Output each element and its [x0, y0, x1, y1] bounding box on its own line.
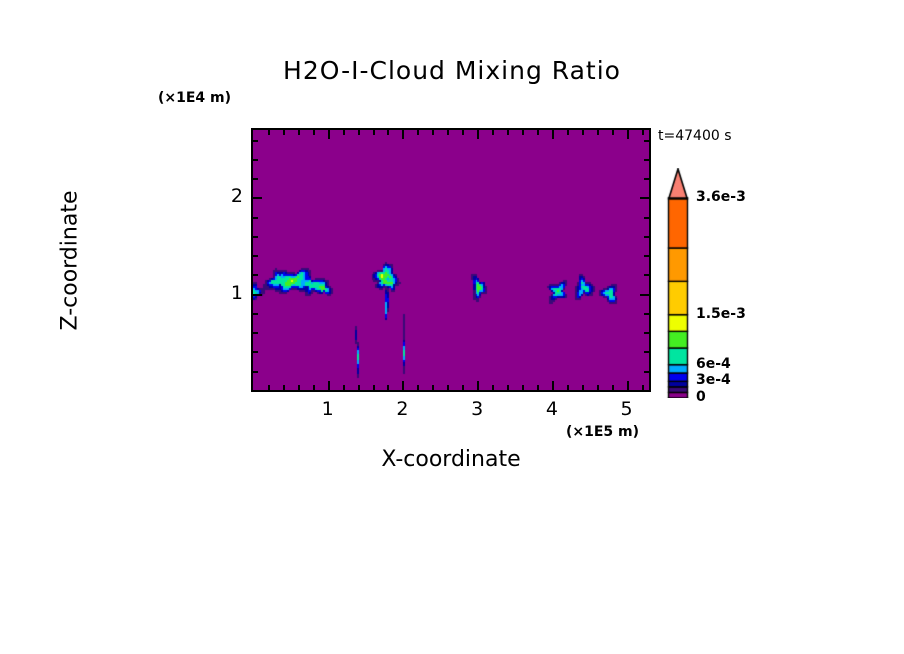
tick-mark — [462, 130, 464, 135]
tick-mark — [522, 385, 524, 390]
x-tick-label: 2 — [382, 398, 422, 420]
tick-mark — [644, 140, 649, 142]
tick-mark — [358, 385, 360, 390]
tick-mark — [644, 255, 649, 257]
tick-mark — [522, 130, 524, 135]
tick-mark — [402, 381, 404, 390]
tick-mark — [507, 130, 509, 135]
tick-mark — [253, 255, 258, 257]
tick-mark — [432, 130, 434, 135]
tick-mark — [343, 385, 345, 390]
tick-mark — [612, 130, 614, 135]
tick-mark — [283, 385, 285, 390]
tick-mark — [373, 130, 375, 135]
tick-mark — [644, 313, 649, 315]
tick-mark — [358, 130, 360, 135]
tick-mark — [253, 178, 258, 180]
tick-mark — [642, 385, 644, 390]
time-annotation: t=47400 s — [658, 128, 732, 144]
tick-mark — [582, 385, 584, 390]
tick-mark — [582, 130, 584, 135]
colorbar — [666, 168, 690, 398]
tick-mark — [537, 385, 539, 390]
colorbar-tick-label: 0 — [696, 389, 706, 405]
tick-mark — [298, 130, 300, 135]
tick-mark — [402, 130, 404, 139]
tick-mark — [253, 294, 262, 296]
tick-mark — [644, 217, 649, 219]
colorbar-tick-label: 3.6e-3 — [696, 189, 746, 205]
tick-mark — [537, 130, 539, 135]
tick-mark — [567, 130, 569, 135]
x-axis-title: X-coordinate — [253, 447, 649, 472]
tick-mark — [328, 381, 330, 390]
y-axis-units: (×1E4 m) — [158, 90, 231, 106]
tick-mark — [283, 130, 285, 135]
tick-mark — [253, 371, 258, 373]
tick-mark — [477, 381, 479, 390]
tick-mark — [253, 197, 262, 199]
chart-title: H2O-I-Cloud Mixing Ratio — [0, 56, 904, 85]
tick-mark — [328, 130, 330, 139]
tick-mark — [552, 381, 554, 390]
y-axis-title: Z-coordinate — [58, 131, 83, 391]
tick-mark — [253, 351, 258, 353]
y-tick-label: 1 — [213, 282, 243, 304]
tick-mark — [253, 274, 258, 276]
tick-mark — [387, 385, 389, 390]
tick-mark — [417, 130, 419, 135]
tick-mark — [477, 130, 479, 139]
tick-mark — [640, 197, 649, 199]
tick-mark — [597, 130, 599, 135]
x-tick-label: 4 — [532, 398, 572, 420]
tick-mark — [417, 385, 419, 390]
tick-mark — [298, 385, 300, 390]
tick-mark — [627, 381, 629, 390]
colorbar-tick-label: 1.5e-3 — [696, 306, 746, 322]
tick-mark — [343, 130, 345, 135]
tick-mark — [507, 385, 509, 390]
tick-mark — [447, 385, 449, 390]
tick-mark — [268, 130, 270, 135]
y-tick-label: 2 — [213, 185, 243, 207]
tick-mark — [644, 371, 649, 373]
tick-mark — [644, 236, 649, 238]
x-tick-label: 5 — [607, 398, 647, 420]
tick-mark — [387, 130, 389, 135]
tick-mark — [313, 130, 315, 135]
tick-mark — [567, 385, 569, 390]
x-tick-label: 3 — [457, 398, 497, 420]
tick-mark — [612, 385, 614, 390]
tick-mark — [253, 236, 258, 238]
tick-mark — [253, 332, 258, 334]
tick-mark — [627, 130, 629, 139]
colorbar-tick-label: 3e-4 — [696, 372, 731, 388]
tick-mark — [313, 385, 315, 390]
tick-mark — [447, 130, 449, 135]
tick-mark — [644, 351, 649, 353]
tick-mark — [640, 294, 649, 296]
colorbar-tick-label: 6e-4 — [696, 356, 731, 372]
tick-mark — [644, 274, 649, 276]
tick-mark — [644, 332, 649, 334]
tick-mark — [253, 313, 258, 315]
contour-plot — [253, 130, 649, 390]
tick-mark — [462, 385, 464, 390]
tick-mark — [268, 385, 270, 390]
x-tick-label: 1 — [308, 398, 348, 420]
tick-mark — [492, 385, 494, 390]
tick-mark — [373, 385, 375, 390]
tick-mark — [642, 130, 644, 135]
tick-mark — [253, 159, 258, 161]
tick-mark — [253, 140, 258, 142]
tick-mark — [644, 159, 649, 161]
x-axis-units: (×1E5 m) — [566, 424, 639, 440]
tick-mark — [432, 385, 434, 390]
tick-mark — [492, 130, 494, 135]
tick-mark — [644, 178, 649, 180]
tick-mark — [253, 217, 258, 219]
tick-mark — [597, 385, 599, 390]
tick-mark — [552, 130, 554, 139]
